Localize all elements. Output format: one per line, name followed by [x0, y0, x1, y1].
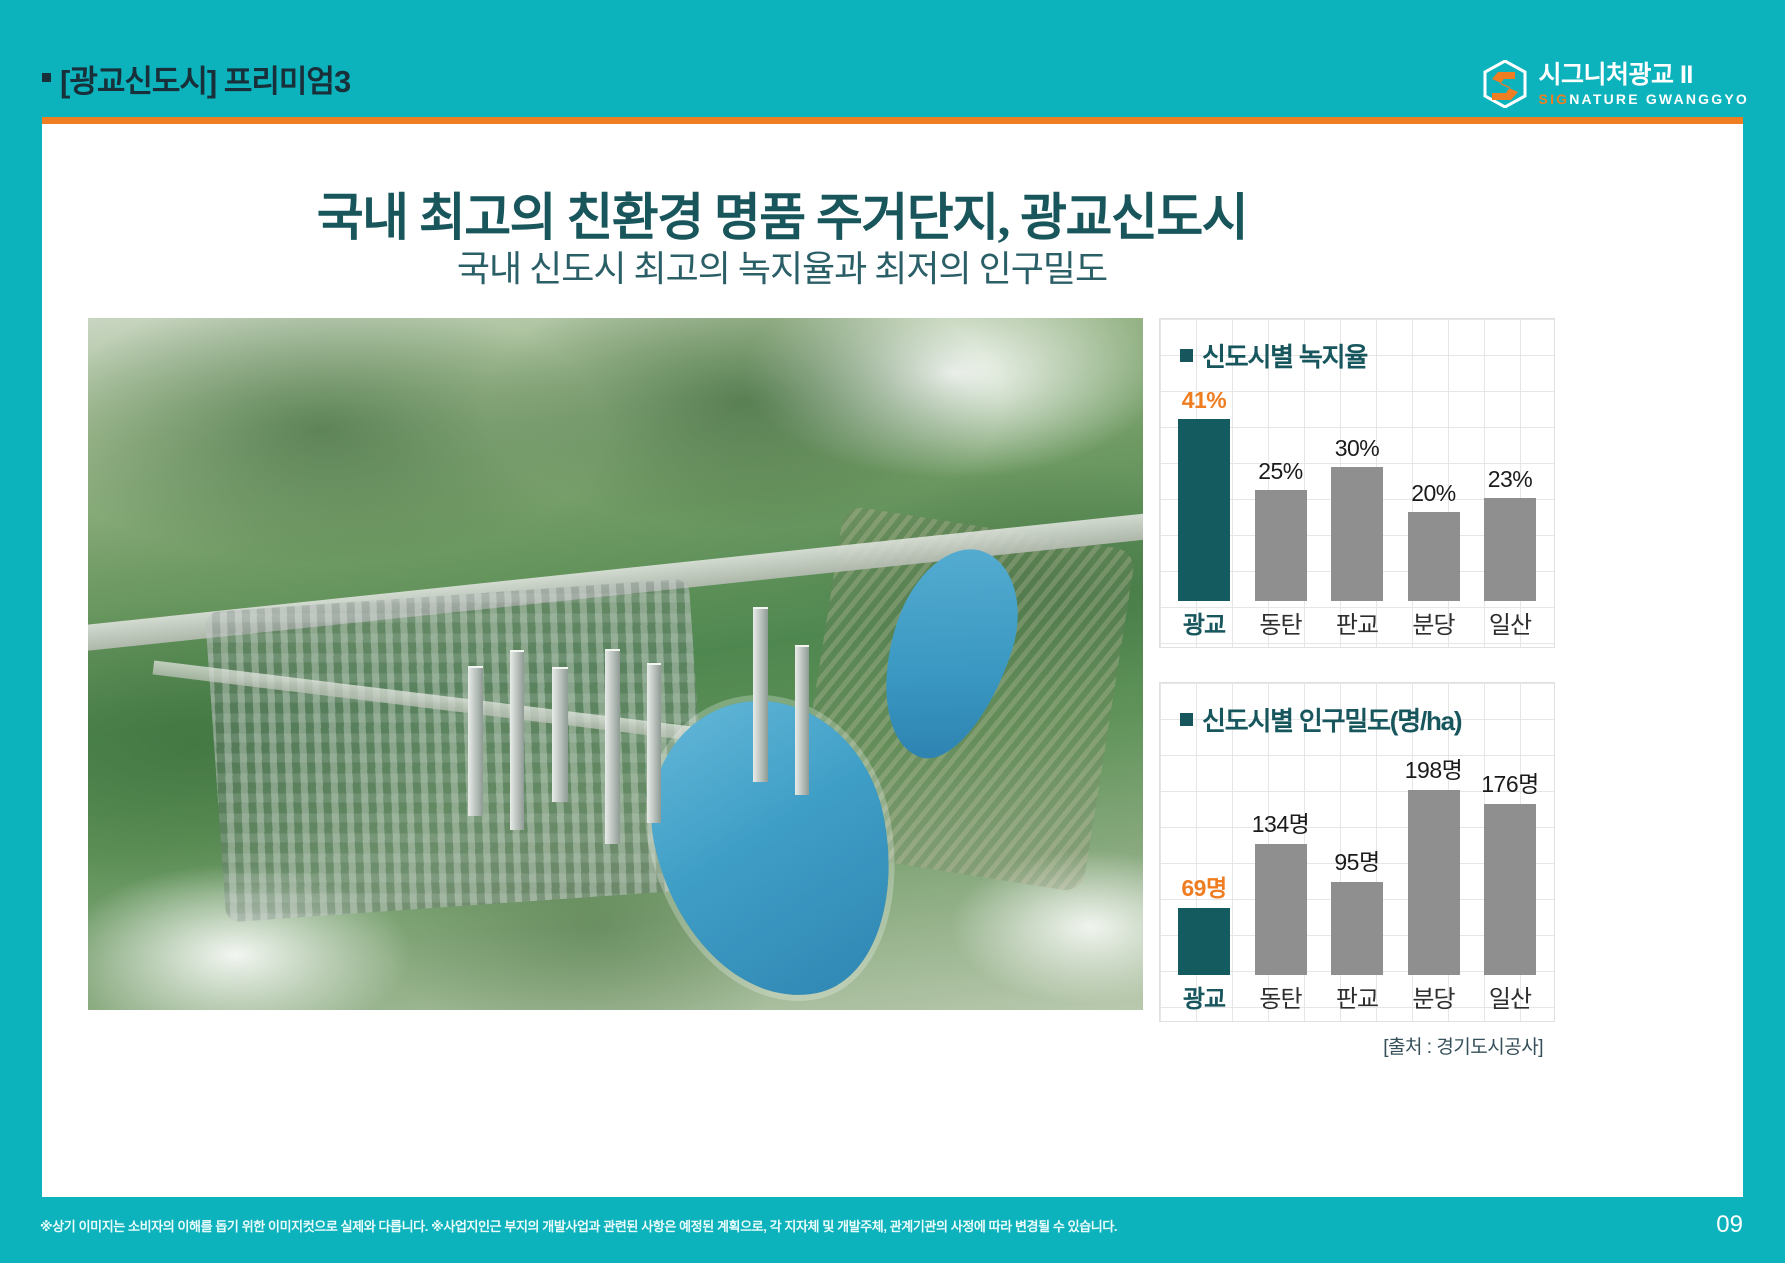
- chart-density-title-label: 신도시별 인구밀도(명/ha): [1202, 701, 1461, 738]
- square-bullet-icon: [1180, 713, 1193, 726]
- axis-tick-분당: 분당: [1406, 605, 1462, 640]
- aerial-tower: [510, 650, 524, 830]
- bar-column-일산: 176명: [1482, 751, 1538, 975]
- bar-value-label: 41%: [1182, 387, 1227, 414]
- breadcrumb-label: [광교신도시] 프리미엄3: [60, 56, 350, 101]
- bar: [1331, 467, 1383, 601]
- logo-name-en-prefix: SIG: [1539, 91, 1570, 107]
- axis-tick-광교: 광교: [1176, 605, 1232, 640]
- aerial-tower: [468, 666, 483, 816]
- axis-tick-분당: 분당: [1406, 979, 1462, 1014]
- axis-tick-동탄: 동탄: [1253, 605, 1309, 640]
- bar: [1408, 790, 1460, 975]
- page-subtitle: 국내 신도시 최고의 녹지율과 최저의 인구밀도: [42, 240, 1522, 292]
- axis-tick-판교: 판교: [1329, 979, 1385, 1014]
- chart-density-title: 신도시별 인구밀도(명/ha): [1180, 701, 1461, 738]
- aerial-tower: [753, 607, 768, 782]
- aerial-city-blocks-layer: [204, 578, 710, 922]
- bar: [1408, 512, 1460, 601]
- page-header: [광교신도시] 프리미엄3 시그니처광교 II SIGNATURE GWANGG…: [0, 0, 1785, 122]
- axis-tick-동탄: 동탄: [1253, 979, 1309, 1014]
- bar-value-label: 23%: [1488, 466, 1533, 493]
- chart-greenery-title: 신도시별 녹지율: [1180, 337, 1367, 374]
- brand-logo: 시그니처광교 II SIGNATURE GWANGGYO: [1482, 56, 1749, 112]
- chart-greenery-plot: 41%25%30%20%23%: [1176, 387, 1538, 601]
- bar: [1178, 908, 1230, 975]
- bar-value-label: 198명: [1405, 751, 1463, 785]
- bar-value-label: 69명: [1181, 869, 1226, 903]
- chart-density-plot: 69명134명95명198명176명: [1176, 751, 1538, 975]
- bar: [1255, 490, 1307, 601]
- bar-value-label: 25%: [1258, 458, 1303, 485]
- aerial-tower: [795, 645, 809, 795]
- hexagon-s-logo-icon: [1482, 60, 1528, 108]
- bar-value-label: 20%: [1411, 480, 1456, 507]
- footer-disclaimer: ※상기 이미지는 소비자의 이해를 돕기 위한 이미지컷으로 실제와 다릅니다.…: [40, 1216, 1117, 1235]
- axis-tick-광교: 광교: [1176, 979, 1232, 1014]
- aerial-tower: [605, 649, 620, 844]
- bar-column-판교: 30%: [1329, 387, 1385, 601]
- bar-column-일산: 23%: [1482, 387, 1538, 601]
- bar: [1331, 882, 1383, 975]
- chart-population-density: 신도시별 인구밀도(명/ha) 69명134명95명198명176명 광교동탄판…: [1159, 682, 1555, 1022]
- chart-density-axis: 광교동탄판교분당일산: [1176, 979, 1538, 1013]
- logo-name-en-rest: NATURE GWANGGYO: [1569, 91, 1749, 107]
- bar-column-판교: 95명: [1329, 751, 1385, 975]
- bar-column-분당: 20%: [1406, 387, 1462, 601]
- bar-value-label: 134명: [1252, 805, 1310, 839]
- chart-source-note: [출처 : 경기도시공사]: [1159, 1032, 1555, 1059]
- chart-greenery-ratio: 신도시별 녹지율 41%25%30%20%23% 광교동탄판교분당일산: [1159, 318, 1555, 648]
- aerial-tower: [552, 667, 568, 802]
- bar-value-label: 30%: [1335, 435, 1380, 462]
- bar: [1484, 498, 1536, 601]
- axis-tick-일산: 일산: [1482, 979, 1538, 1014]
- bar: [1178, 419, 1230, 601]
- square-bullet-icon: [1180, 349, 1193, 362]
- breadcrumb: [광교신도시] 프리미엄3: [42, 56, 350, 101]
- slide-canvas: 국내 최고의 친환경 명품 주거단지, 광교신도시 국내 신도시 최고의 녹지율…: [42, 124, 1743, 1197]
- bar-column-분당: 198명: [1406, 751, 1462, 975]
- aerial-rendering-image: [88, 318, 1143, 1010]
- bar-value-label: 95명: [1334, 843, 1379, 877]
- logo-name-ko: 시그니처광교 II: [1539, 63, 1749, 88]
- bar-column-광교: 41%: [1176, 387, 1232, 601]
- chart-greenery-title-label: 신도시별 녹지율: [1202, 337, 1367, 374]
- bar: [1484, 804, 1536, 975]
- accent-divider: [42, 117, 1743, 124]
- chart-greenery-axis: 광교동탄판교분당일산: [1176, 605, 1538, 639]
- bar: [1255, 844, 1307, 975]
- axis-tick-일산: 일산: [1482, 605, 1538, 640]
- bar-column-광교: 69명: [1176, 751, 1232, 975]
- bar-value-label: 176명: [1481, 765, 1539, 799]
- bar-column-동탄: 25%: [1253, 387, 1309, 601]
- aerial-tower: [647, 663, 661, 823]
- page-number: 09: [1716, 1211, 1743, 1239]
- logo-wordmark: 시그니처광교 II SIGNATURE GWANGGYO: [1539, 63, 1749, 106]
- page-title: 국내 최고의 친환경 명품 주거단지, 광교신도시: [42, 176, 1522, 250]
- bar-column-동탄: 134명: [1253, 751, 1309, 975]
- logo-name-en: SIGNATURE GWANGGYO: [1539, 92, 1749, 106]
- axis-tick-판교: 판교: [1329, 605, 1385, 640]
